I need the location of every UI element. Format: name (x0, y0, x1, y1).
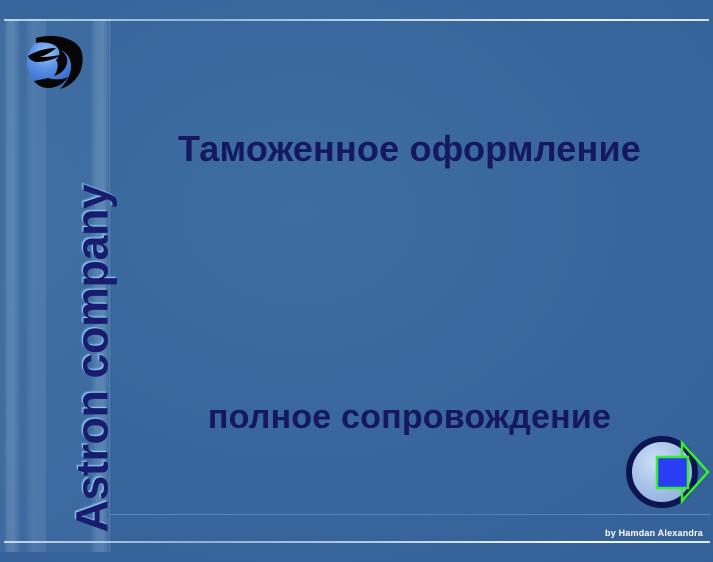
slide-title-sub: полное сопровождение (112, 398, 707, 437)
circle-square-chevron-graphic-icon (624, 434, 712, 510)
slide-title-main: Таможенное оформление (112, 128, 707, 170)
footer-faint-line (110, 514, 710, 515)
author-credit: by Hamdan Alexandra (605, 528, 703, 538)
company-name-vertical: Astron company (70, 113, 115, 533)
presentation-slide: Astron company Таможенное оформление пол… (0, 0, 713, 562)
astron-eagle-globe-logo-icon (22, 26, 88, 94)
sidebar-band-2 (26, 19, 46, 552)
sidebar-band-1 (4, 19, 20, 552)
